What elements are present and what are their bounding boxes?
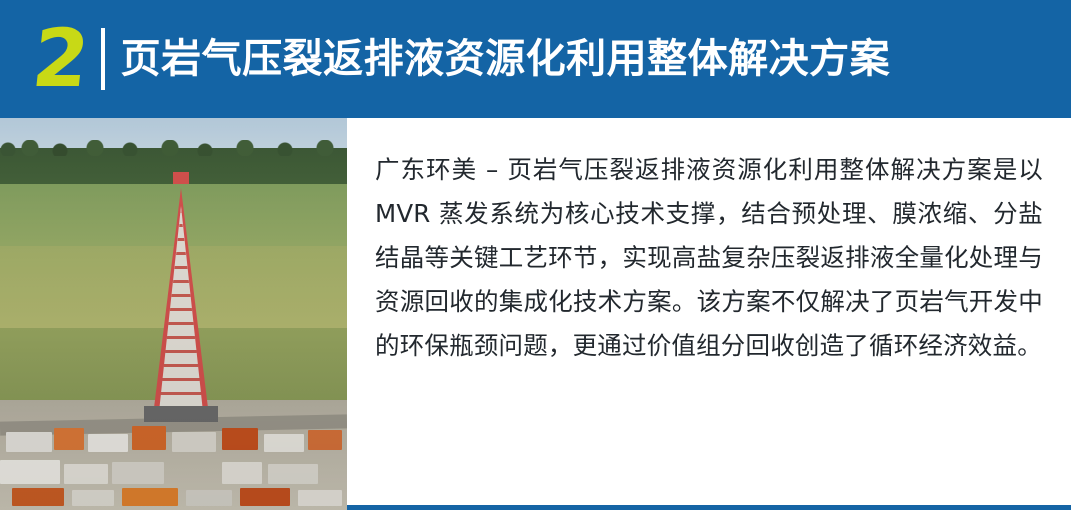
derrick-crown-block xyxy=(173,172,189,184)
content-area: 广东环美 – 页岩气压裂返排液资源化利用整体解决方案是以 MVR 蒸发系统为核心… xyxy=(0,118,1071,510)
photo-equipment-yard xyxy=(0,418,347,510)
yard-vehicle xyxy=(122,488,178,506)
yard-container xyxy=(54,428,84,450)
page-root: 2 页岩气压裂返排液资源化利用整体解决方案 xyxy=(0,0,1071,510)
yard-container xyxy=(308,430,342,450)
yard-vehicle xyxy=(12,488,64,506)
header-divider xyxy=(101,28,105,90)
yard-container xyxy=(132,426,166,450)
description-panel: 广东环美 – 页岩气压裂返排液资源化利用整体解决方案是以 MVR 蒸发系统为核心… xyxy=(347,118,1071,510)
yard-container xyxy=(222,428,258,450)
yard-container xyxy=(88,434,128,452)
description-paragraph: 广东环美 – 页岩气压裂返排液资源化利用整体解决方案是以 MVR 蒸发系统为核心… xyxy=(375,148,1043,368)
yard-trailer xyxy=(170,466,216,484)
yard-trailer xyxy=(112,462,164,484)
yard-trailer xyxy=(64,464,108,484)
yard-container xyxy=(6,432,52,452)
bottom-rule xyxy=(347,505,1071,510)
yard-vehicle xyxy=(72,490,114,506)
section-header-bar: 2 页岩气压裂返排液资源化利用整体解决方案 xyxy=(0,0,1071,118)
yard-vehicle xyxy=(298,490,342,506)
yard-trailer xyxy=(222,462,262,484)
yard-container xyxy=(172,432,216,452)
section-number: 2 xyxy=(29,19,91,99)
yard-trailer xyxy=(268,464,318,484)
drilling-derrick xyxy=(150,172,212,416)
yard-trailer xyxy=(0,460,60,484)
yard-vehicle xyxy=(186,490,232,506)
yard-vehicle xyxy=(240,488,290,506)
yard-container xyxy=(264,434,304,452)
shale-gas-drilling-rig-photo xyxy=(0,118,347,510)
page-title: 页岩气压裂返排液资源化利用整体解决方案 xyxy=(121,35,1071,83)
